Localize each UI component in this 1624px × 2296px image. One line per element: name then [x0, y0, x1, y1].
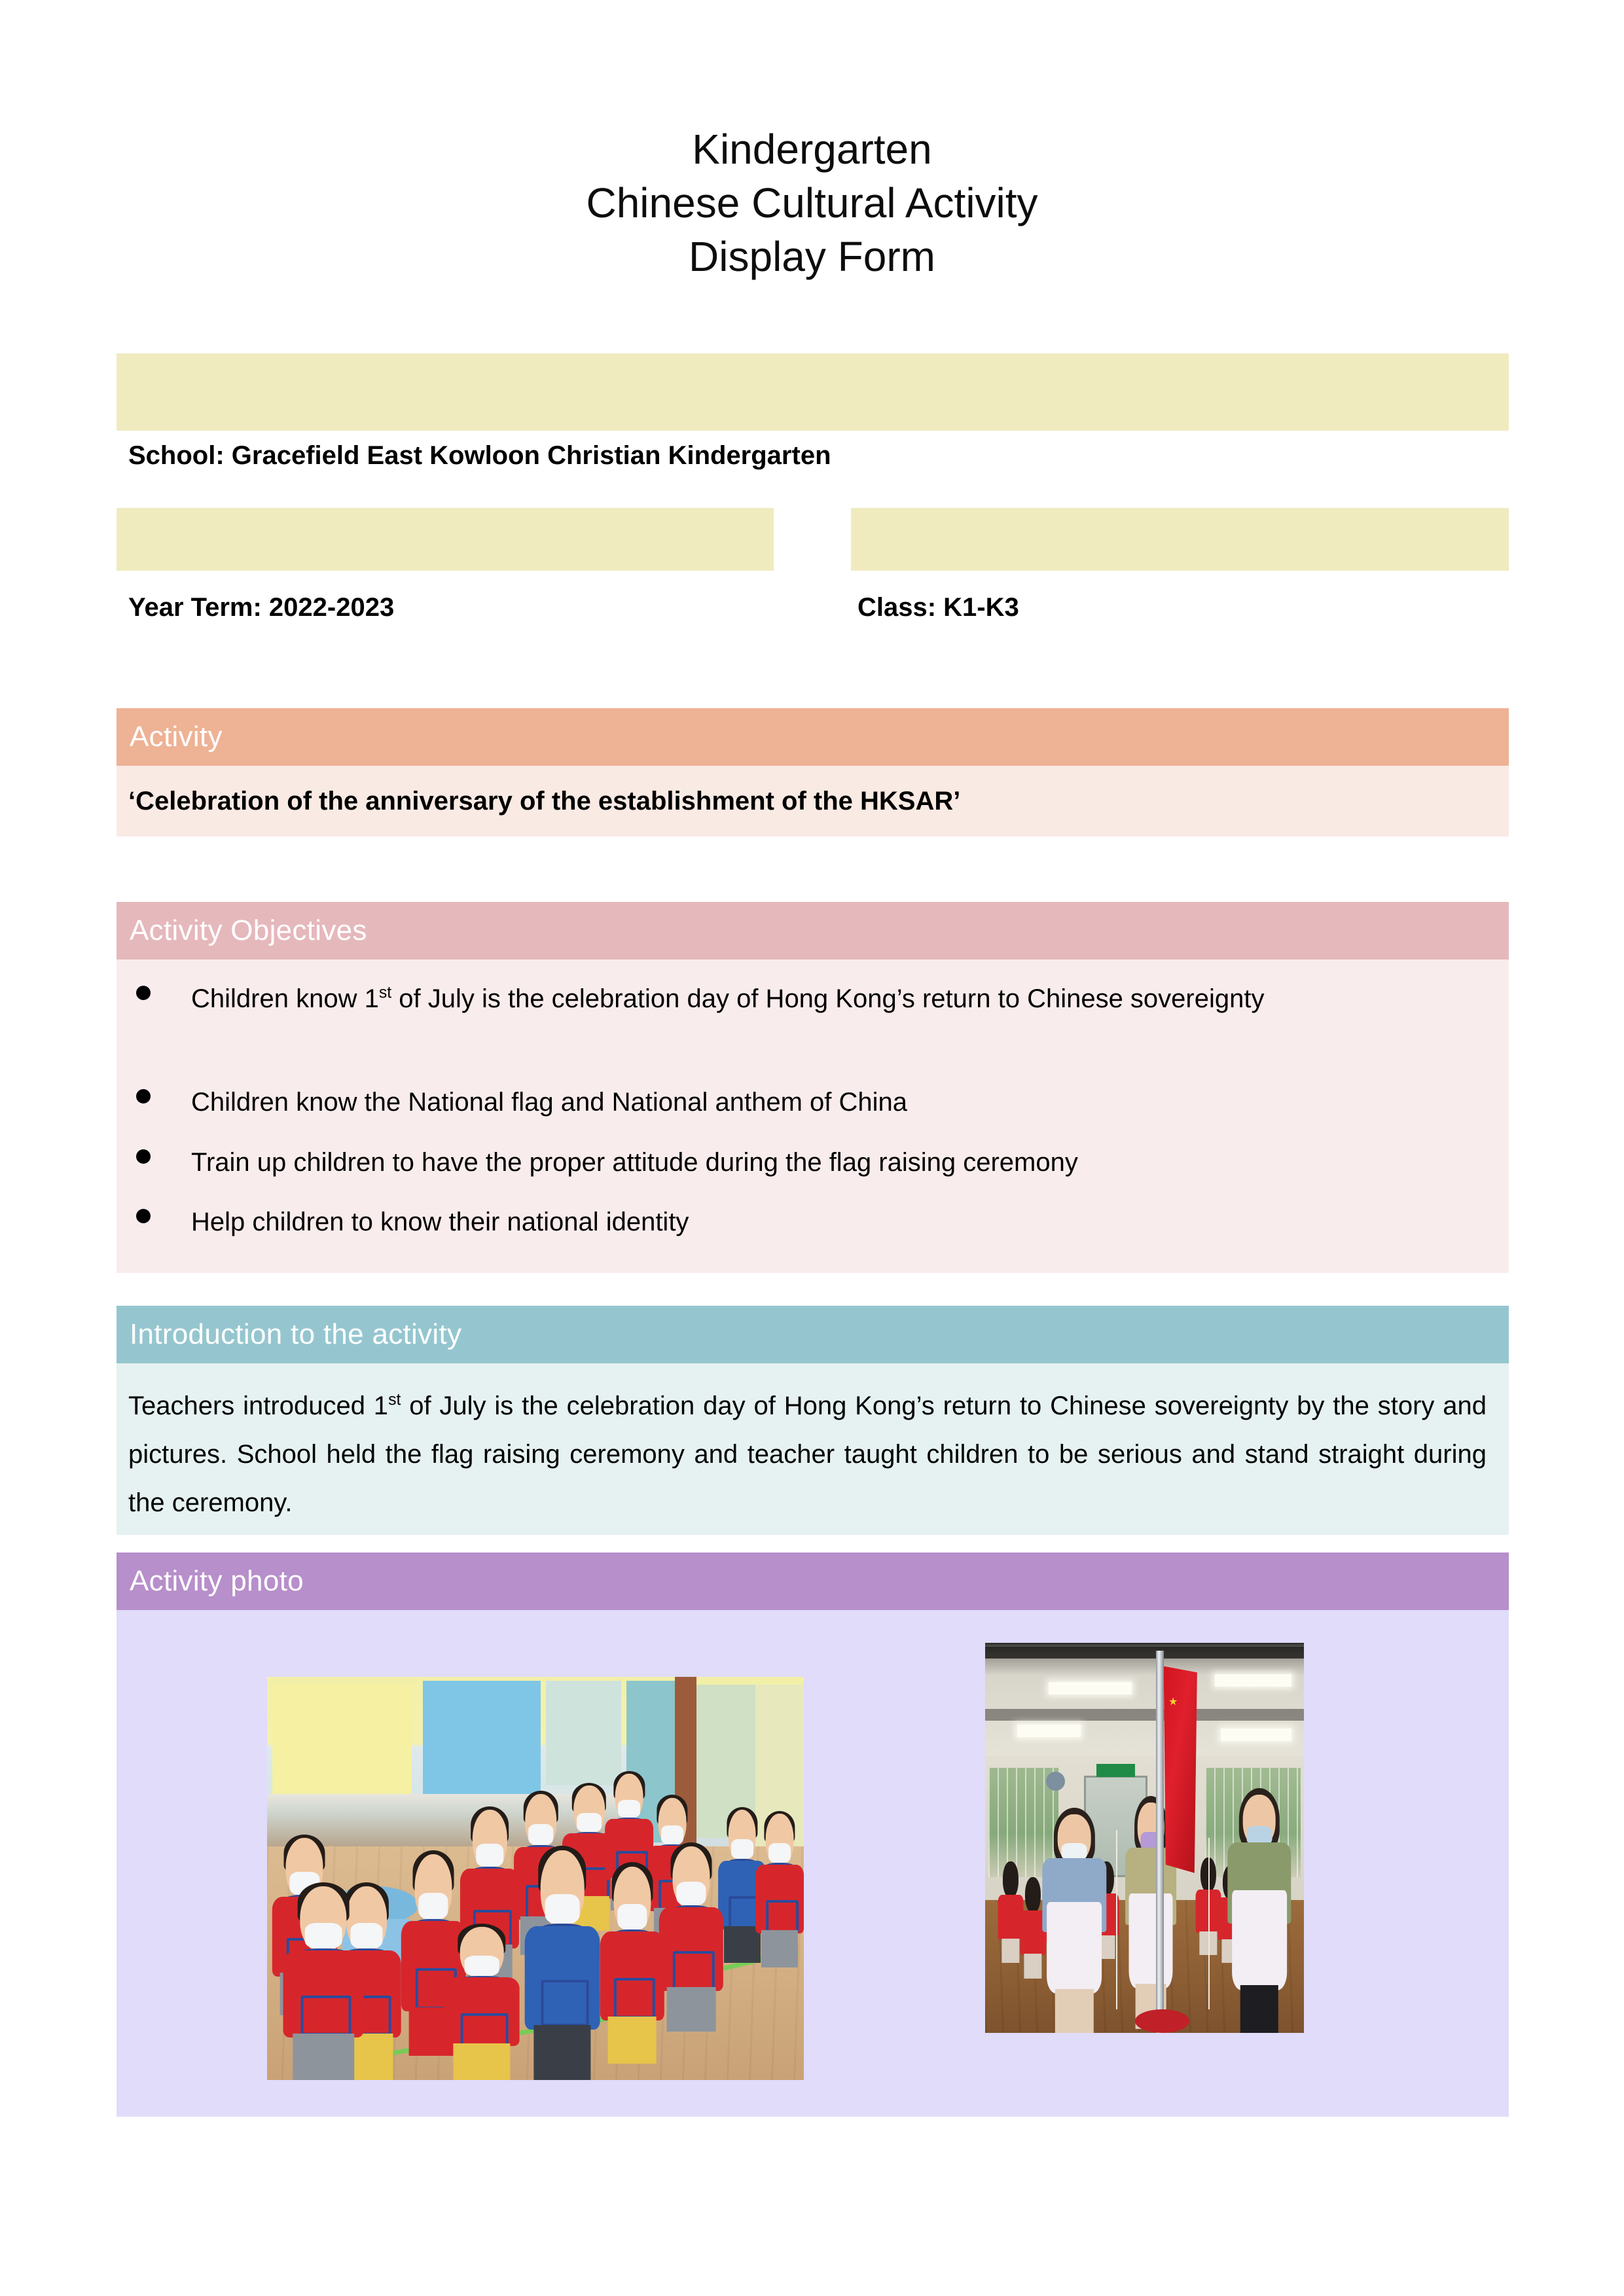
- list-item: Children know 1st of July is the celebra…: [136, 982, 1494, 1016]
- wall-fan-icon: [1046, 1772, 1065, 1791]
- bullet-icon: [136, 1149, 151, 1164]
- section-header-introduction: Introduction to the activity: [117, 1306, 1509, 1363]
- ceiling-light: [1017, 1725, 1081, 1737]
- section-header-objectives: Activity Objectives: [117, 902, 1509, 960]
- class-field-box[interactable]: [851, 508, 1509, 571]
- objective-text: Children know the National flag and Nati…: [191, 1085, 1494, 1120]
- list-item: Train up children to have the proper att…: [136, 1145, 1494, 1180]
- year-term-label: Year Term: 2022-2023: [128, 594, 394, 620]
- display-board-teal: [546, 1681, 621, 1785]
- ordinal-suffix: st: [379, 984, 391, 1002]
- page-title-line-3: Display Form: [0, 230, 1624, 284]
- section-header-activity-photo: Activity photo: [117, 1552, 1509, 1610]
- class-label: Class: K1-K3: [857, 594, 1019, 620]
- child-figure: [755, 1814, 804, 1967]
- section-body-activity: ‘Celebration of the anniversary of the e…: [117, 766, 1509, 836]
- objective-text: Help children to know their national ide…: [191, 1205, 1494, 1240]
- list-item: Help children to know their national ide…: [136, 1205, 1494, 1240]
- list-item: Children know the National flag and Nati…: [136, 1085, 1494, 1120]
- objective-text: Train up children to have the proper att…: [191, 1145, 1494, 1180]
- section-header-objectives-label: Activity Objectives: [130, 914, 367, 947]
- school-field-box[interactable]: [117, 353, 1509, 431]
- objective-text-post: of July is the celebration day of Hong K…: [391, 984, 1264, 1013]
- bullet-icon: [136, 1089, 151, 1103]
- introduction-text-pre: Teachers introduced 1: [128, 1391, 388, 1420]
- ceiling-beam: [985, 1647, 1304, 1659]
- child-figure: [600, 1867, 664, 2064]
- photo-flag-raising-ceremony: ★: [985, 1643, 1304, 2033]
- display-board-blue: [423, 1681, 541, 1806]
- section-body-introduction: Teachers introduced 1st of July is the c…: [117, 1363, 1509, 1535]
- ordinal-suffix: st: [388, 1391, 401, 1409]
- bullet-icon: [136, 1209, 151, 1223]
- page-title-line-1: Kindergarten: [0, 123, 1624, 177]
- teacher-figure-raising-flag: [1043, 1814, 1106, 2033]
- display-board-yellow: [272, 1685, 412, 1802]
- school-label: School: Gracefield East Kowloon Christia…: [128, 442, 831, 469]
- ceiling-light: [1049, 1682, 1132, 1695]
- exit-sign: [1096, 1764, 1134, 1777]
- section-header-activity-label: Activity: [130, 721, 223, 753]
- flagpole-base: [1135, 2009, 1189, 2033]
- page-title-line-2: Chinese Cultural Activity: [0, 177, 1624, 230]
- introduction-text: Teachers introduced 1st of July is the c…: [128, 1382, 1487, 1527]
- flag-rope: [1208, 1838, 1210, 2009]
- section-header-activity-photo-label: Activity photo: [130, 1565, 304, 1598]
- ceiling-light: [1215, 1674, 1291, 1687]
- section-body-objectives: Children know 1st of July is the celebra…: [117, 960, 1509, 1273]
- child-figure: [659, 1846, 723, 2032]
- flag-rope: [1116, 1830, 1117, 2009]
- photo-children-standing-in-classroom: [267, 1677, 804, 2080]
- section-header-activity: Activity: [117, 708, 1509, 766]
- objective-text-pre: Children know 1: [191, 984, 379, 1013]
- flagpole: [1156, 1651, 1164, 2033]
- section-header-introduction-label: Introduction to the activity: [130, 1318, 461, 1351]
- child-figure: [525, 1850, 600, 2080]
- flag-star-icon: ★: [1168, 1697, 1178, 1708]
- activity-title-text: ‘Celebration of the anniversary of the e…: [128, 787, 960, 816]
- bullet-icon: [136, 986, 151, 1000]
- ceiling-beam: [985, 1709, 1304, 1721]
- child-figure: [283, 1886, 364, 2080]
- ceiling-light: [1221, 1729, 1291, 1741]
- objective-text: Children know 1st of July is the celebra…: [191, 982, 1494, 1016]
- child-figure: [444, 1927, 520, 2080]
- teacher-figure-holding-rope: [1227, 1795, 1291, 2033]
- year-term-field-box[interactable]: [117, 508, 774, 571]
- page-title: Kindergarten Chinese Cultural Activity D…: [0, 123, 1624, 284]
- hall-ceiling: [985, 1643, 1304, 1760]
